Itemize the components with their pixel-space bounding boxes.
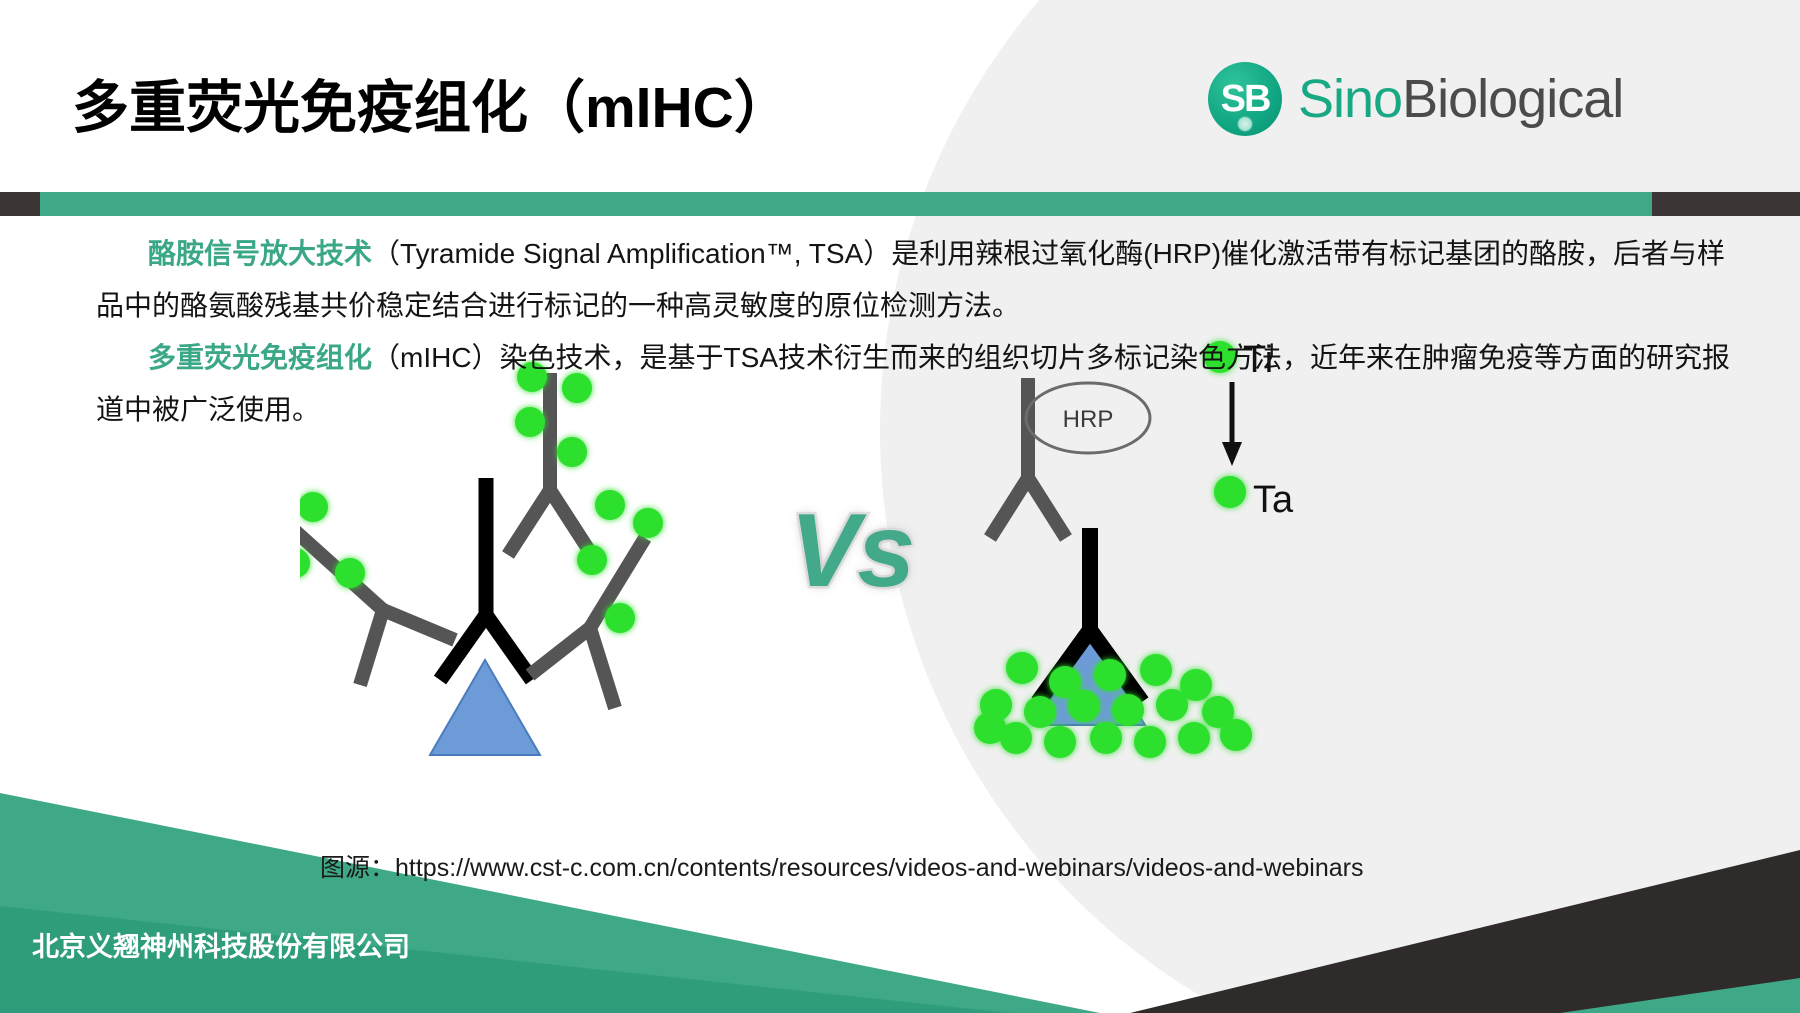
brand-word-sino: Sino — [1298, 69, 1402, 129]
keyword-tsa: 酪胺信号放大技术 — [148, 238, 372, 269]
vs-divider-label: Vs — [790, 492, 913, 611]
logo-monogram-icon: SB — [1208, 62, 1282, 136]
fluorophore-cloud-right — [974, 652, 1252, 758]
paragraph-mihc: 多重荧光免疫组化（mIHC）染色技术，是基于TSA技术衍生而来的组织切片多标记染… — [96, 332, 1736, 436]
page-title: 多重荧光免疫组化（mIHC） — [72, 62, 791, 144]
brand-word-biological: Biological — [1402, 69, 1623, 129]
header-band-teal — [40, 192, 1652, 216]
paragraph-tsa: 酪胺信号放大技术（Tyramide Signal Amplification™,… — [96, 228, 1736, 332]
body-copy: 酪胺信号放大技术（Tyramide Signal Amplification™,… — [96, 228, 1736, 436]
keyword-mihc: 多重荧光免疫组化 — [148, 342, 372, 373]
header-divider-band — [0, 192, 1800, 216]
footer-company-name: 北京义翘神州科技股份有限公司 — [32, 925, 410, 964]
source-caption: 图源：https://www.cst-c.com.cn/contents/res… — [320, 848, 1363, 884]
primary-antibody-left — [440, 478, 532, 680]
header-band-dark-left — [0, 192, 40, 216]
slide-canvas: 多重荧光免疫组化（mIHC） SB SinoBiological 酪胺信号放大技… — [0, 0, 1800, 1013]
ta-label: Ta — [1253, 479, 1294, 521]
logo-monogram-text: SB — [1221, 78, 1270, 121]
ta-fluorophore-dot — [1214, 476, 1246, 508]
brand-wordmark: SinoBiological — [1298, 68, 1623, 130]
brand-logo: SB SinoBiological — [1208, 62, 1623, 136]
header-band-dark-right — [1652, 192, 1800, 216]
footer-triangle-teal-main — [0, 793, 1100, 1013]
background-right-panel — [1360, 0, 1800, 960]
secondary-antibody-left — [300, 530, 455, 685]
